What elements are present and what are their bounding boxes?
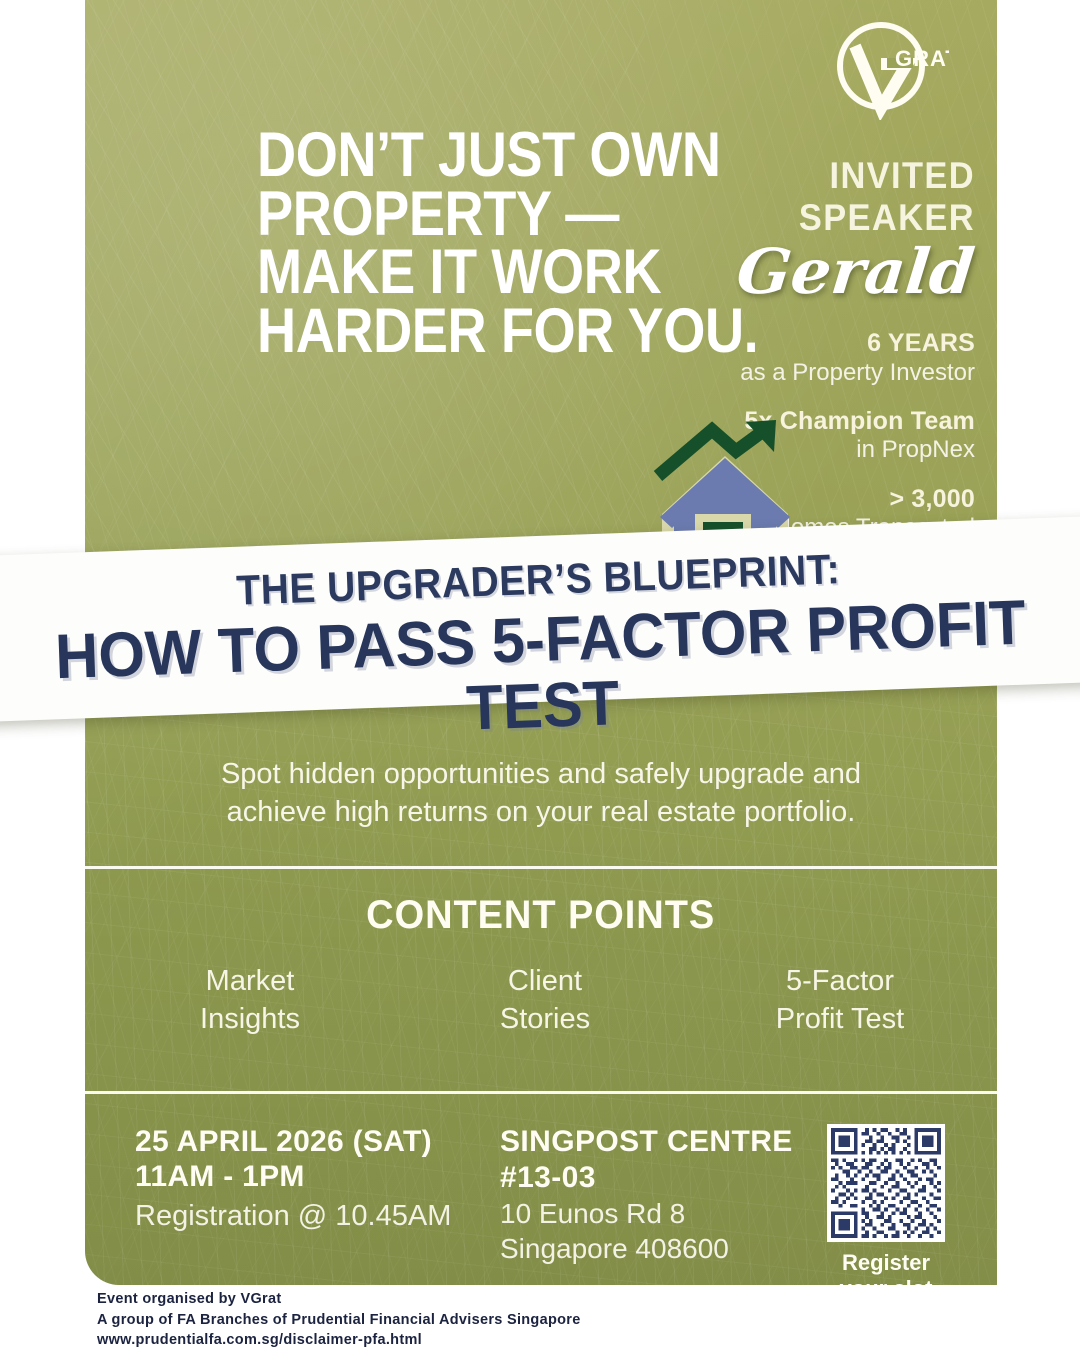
qr-register-label-line-1: Register [823,1250,949,1276]
hero-headline-line-3: MAKE IT WORK [257,243,661,302]
content-point-line-2: Insights [125,1001,375,1039]
subtitle-block: Spot hidden opportunities and safely upg… [85,755,997,832]
content-point-line-2: Profit Test [715,1001,965,1039]
event-date-column: 25 APRIL 2026 (SAT) 11AM - 1PM Registrat… [135,1124,495,1234]
qr-register-label-line-2: your slot [823,1276,949,1285]
section-divider-top [85,866,997,869]
content-point-line-1: Market [125,963,375,1001]
footer-line-1: Event organised by VGrat [97,1289,857,1310]
subtitle-line-1: Spot hidden opportunities and safely upg… [85,755,997,793]
speaker-stat-sub: as a Property Investor [675,359,975,387]
footer-line-3: www.prudentialfa.com.sg/disclaimer-pfa.h… [97,1330,857,1350]
content-points-grid: Market Insights Client Stories 5-Factor … [125,963,965,1038]
hero-headline: DON’T JUST OWN PROPERTY — MAKE IT WORK H… [257,126,661,360]
event-details-block: 25 APRIL 2026 (SAT) 11AM - 1PM Registrat… [85,1110,997,1280]
qr-code[interactable] [827,1124,945,1242]
svg-text:GRAT: GRAT [895,46,949,71]
content-points-title: CONTENT POINTS [367,893,716,938]
content-point-item: 5-Factor Profit Test [715,963,965,1038]
vgrat-logo: GRAT [829,16,949,120]
venue-postal: Singapore 408600 [500,1231,850,1266]
venue-street: 10 Eunos Rd 8 [500,1196,850,1231]
event-time: 11AM - 1PM [135,1159,495,1194]
footer-line-2: A group of FA Branches of Prudential Fin… [97,1310,857,1331]
footer-disclaimer: Event organised by VGrat A group of FA B… [97,1289,857,1350]
qr-register-block[interactable]: Register your slot [823,1124,949,1285]
event-registration-time: Registration @ 10.45AM [135,1199,495,1234]
invited-speaker-label: INVITED SPEAKER [696,155,975,239]
subtitle-line-2: achieve high returns on your real estate… [85,793,997,831]
speaker-name: Gerald [669,241,977,303]
content-point-line-2: Stories [420,1001,670,1039]
venue-unit: #13-03 [500,1160,850,1196]
speaker-stat: 6 YEARS as a Property Investor [675,329,975,387]
poster-root: GRAT DON’T JUST OWN PROPERTY — MAKE IT W… [0,0,1080,1350]
event-date: 25 APRIL 2026 (SAT) [135,1124,495,1159]
hero-headline-line-2: PROPERTY — [257,185,661,244]
qr-register-label: Register your slot [823,1250,949,1285]
content-point-line-1: Client [420,963,670,1001]
hero-headline-line-4: HARDER FOR YOU. [257,302,661,361]
content-point-item: Market Insights [125,963,375,1038]
event-venue-column: SINGPOST CENTRE #13-03 10 Eunos Rd 8 Sin… [500,1124,850,1266]
hero-headline-line-1: DON’T JUST OWN [257,126,661,185]
speaker-stat-headline: 6 YEARS [675,329,975,359]
venue-name: SINGPOST CENTRE [500,1124,850,1160]
content-point-line-1: 5-Factor [715,963,965,1001]
content-point-item: Client Stories [420,963,670,1038]
section-divider-bottom [85,1091,997,1094]
